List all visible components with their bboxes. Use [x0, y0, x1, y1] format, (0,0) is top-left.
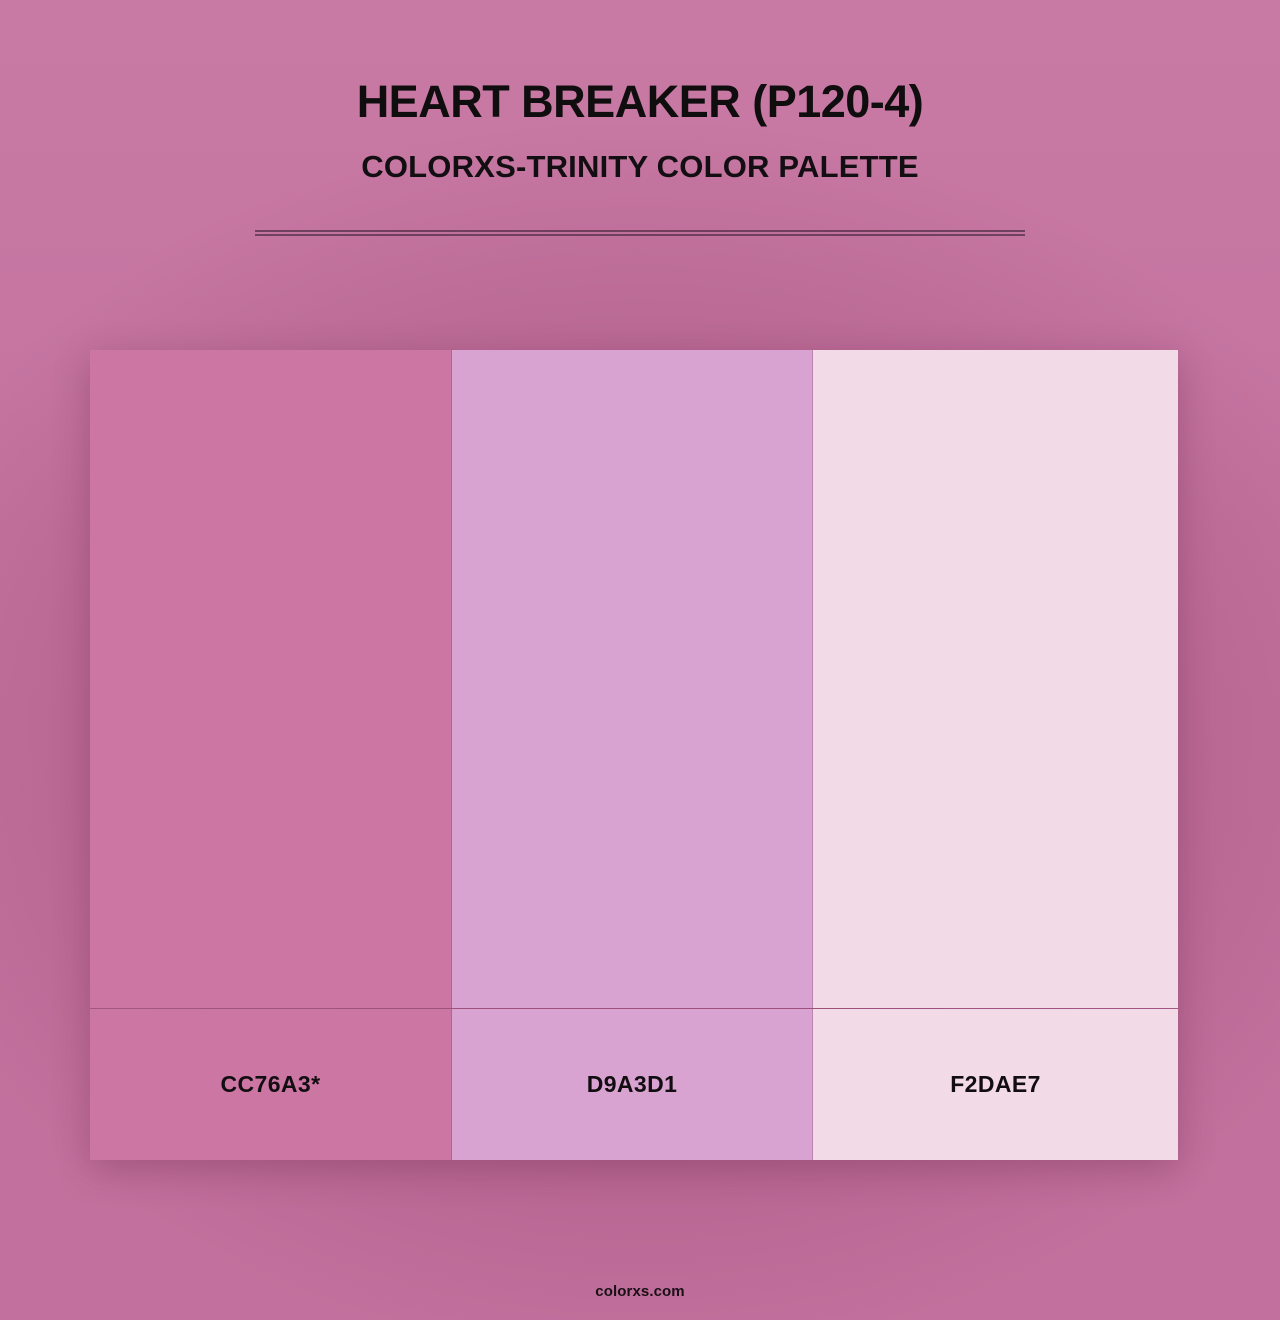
swatch-label-row: CC76A3* D9A3D1 F2DAE7 [90, 1008, 1178, 1160]
header-divider [255, 230, 1025, 236]
color-hex-label: F2DAE7 [950, 1071, 1041, 1098]
color-palette-card: CC76A3* D9A3D1 F2DAE7 [90, 350, 1178, 1160]
page-background: HEART BREAKER (P120-4) COLORXS-TRINITY C… [0, 0, 1280, 1320]
page-title: HEART BREAKER (P120-4) [0, 0, 1280, 128]
color-swatch-label-cell[interactable]: CC76A3* [90, 1009, 452, 1160]
footer: colorxs.com [0, 1283, 1280, 1301]
header: HEART BREAKER (P120-4) COLORXS-TRINITY C… [0, 0, 1280, 185]
color-hex-label: D9A3D1 [587, 1071, 678, 1098]
color-swatch[interactable] [90, 350, 452, 1008]
footer-site-label: colorxs.com [595, 1283, 684, 1300]
color-swatch-label-cell[interactable]: D9A3D1 [452, 1009, 813, 1160]
divider-line-top [255, 230, 1025, 232]
color-swatch[interactable] [813, 350, 1178, 1008]
color-hex-label: CC76A3* [221, 1071, 321, 1098]
swatch-row [90, 350, 1178, 1008]
color-swatch[interactable] [452, 350, 813, 1008]
divider-line-bottom [255, 234, 1025, 236]
page-subtitle: COLORXS-TRINITY COLOR PALETTE [0, 128, 1280, 185]
color-swatch-label-cell[interactable]: F2DAE7 [813, 1009, 1178, 1160]
